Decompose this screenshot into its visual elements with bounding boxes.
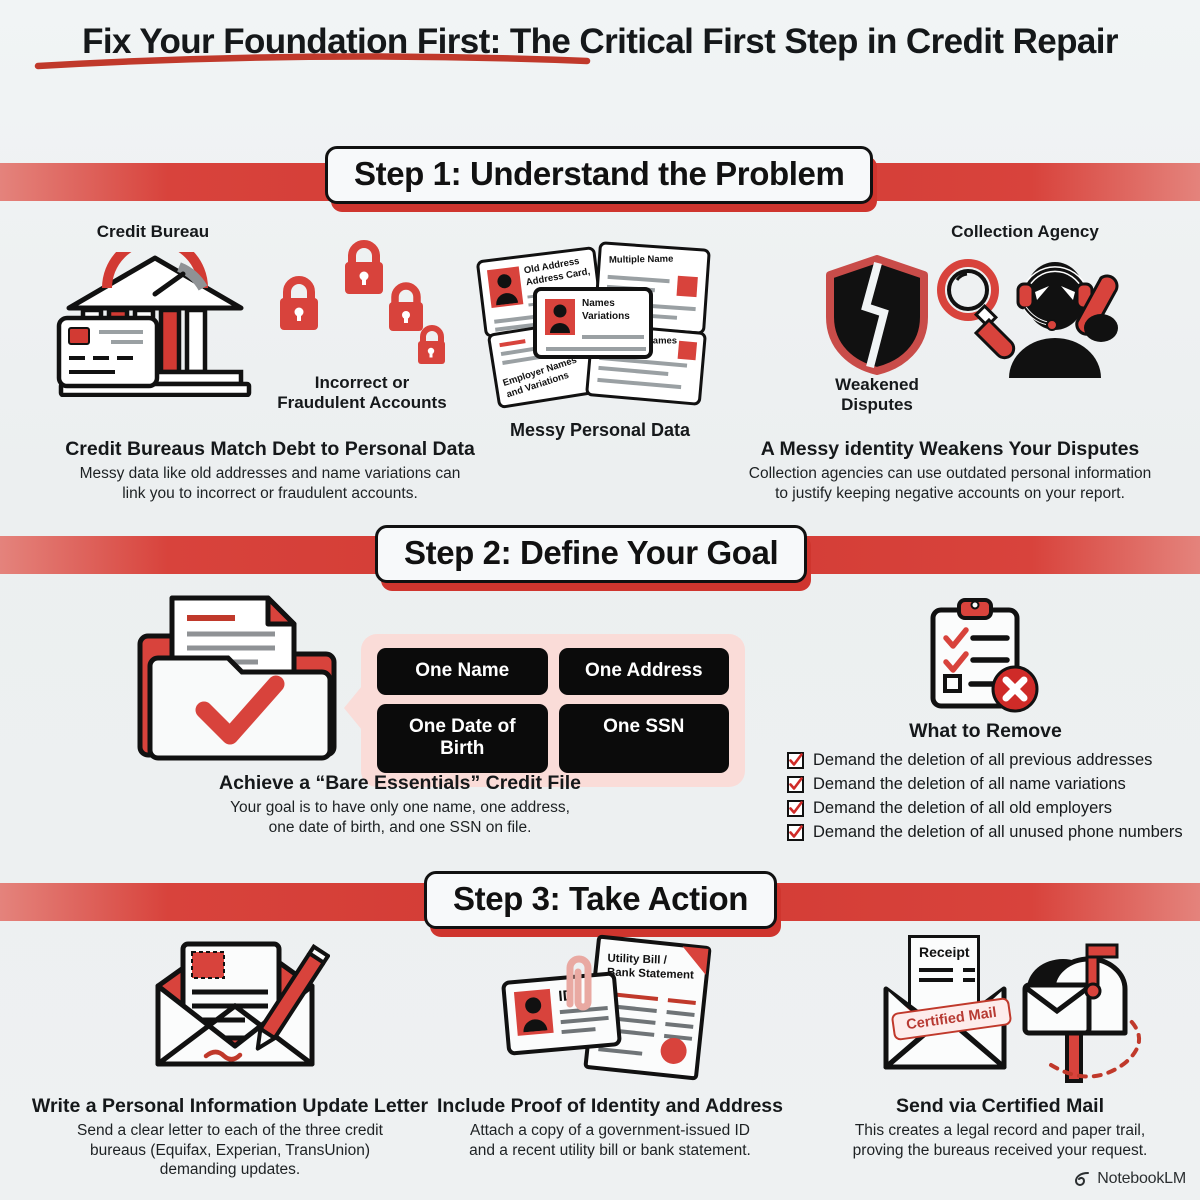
list-item[interactable]: Demand the deletion of all name variatio…	[787, 775, 1183, 794]
step3-card-1-heading: Include Proof of Identity and Address	[430, 1095, 790, 1118]
chip-one-name: One Name	[377, 648, 548, 695]
collection-agency-label: Collection Agency	[900, 222, 1150, 242]
clipboard-remove-icon	[915, 596, 1055, 716]
credit-bureau-node: Credit Bureau	[48, 222, 258, 242]
weakened-disputes-label-line2: Disputes	[812, 395, 942, 415]
chip-one-date-of-birth: One Date of Birth	[377, 704, 548, 773]
step1-banner-label: Step 1: Understand the Problem	[354, 155, 844, 192]
letter-pen-icon	[140, 938, 330, 1078]
remove-item-2-label: Demand the deletion of all old employers	[813, 799, 1112, 818]
step3-card-1: Include Proof of Identity and Address At…	[430, 1095, 790, 1160]
notebooklm-watermark-label: NotebookLM	[1097, 1170, 1186, 1188]
step2-banner: Step 2: Define Your Goal	[375, 525, 807, 583]
bare-essentials-chips: One Name One Address One Date of Birth O…	[361, 634, 745, 787]
list-item[interactable]: Demand the deletion of all previous addr…	[787, 751, 1183, 770]
person-silhouette-icon	[491, 271, 519, 306]
messy-personal-data-label: Messy Personal Data	[480, 420, 720, 441]
step3-card-0-heading: Write a Personal Information Update Lett…	[20, 1095, 440, 1118]
step3-banner: Step 3: Take Action	[424, 871, 777, 929]
fraudulent-accounts-label-line2: Fraudulent Accounts	[262, 393, 462, 413]
utility-bill-label-line2: Bank Statement	[607, 966, 694, 983]
checkbox-checked-icon[interactable]	[787, 800, 804, 817]
list-item[interactable]: Demand the deletion of all unused phone …	[787, 823, 1183, 842]
chip-one-address: One Address	[559, 648, 730, 695]
step3-card-0-line2: bureaus (Equifax, Experian, TransUnion)	[20, 1141, 440, 1161]
weakened-disputes-node: Weakened Disputes	[812, 375, 942, 414]
step2-caption-line1: Your goal is to have only one name, one …	[150, 798, 650, 818]
remove-item-1-label: Demand the deletion of all name variatio…	[813, 775, 1126, 794]
infographic-page: Fix Your Foundation First: The Critical …	[0, 0, 1200, 1200]
notebooklm-logo-icon	[1073, 1170, 1091, 1188]
step3-card-2-heading: Send via Certified Mail	[820, 1095, 1180, 1118]
weakened-disputes-label-line1: Weakened	[812, 375, 942, 395]
folder-check-icon	[130, 592, 360, 767]
paperclip-icon	[556, 952, 602, 1014]
id-card-multiple-name-label: Multiple Name	[609, 254, 674, 266]
step3-card-0-line1: Send a clear letter to each of the three…	[20, 1121, 440, 1141]
step3-card-2: Send via Certified Mail This creates a l…	[820, 1095, 1180, 1160]
remove-item-3-label: Demand the deletion of all unused phone …	[813, 823, 1183, 842]
receipt-label: Receipt	[919, 944, 970, 960]
step1-caption-right-line1: Collection agencies can use outdated per…	[715, 464, 1185, 484]
person-silhouette-icon-3	[518, 994, 549, 1032]
person-silhouette-icon-2	[549, 303, 571, 333]
title-underline-icon	[35, 52, 590, 70]
fraudulent-accounts-node: Incorrect or Fraudulent Accounts	[262, 373, 462, 412]
checkbox-checked-icon[interactable]	[787, 776, 804, 793]
id-utility-bill-icons: Utility Bill / Bank Statement ID	[490, 940, 720, 1085]
checkbox-checked-icon[interactable]	[787, 752, 804, 769]
step3-card-2-line2: proving the bureaus received your reques…	[820, 1141, 1180, 1161]
id-card-names-variations-line1: Names	[582, 298, 630, 311]
credit-bureau-label: Credit Bureau	[48, 222, 258, 242]
step2-banner-label: Step 2: Define Your Goal	[404, 534, 778, 571]
step3-banner-label: Step 3: Take Action	[453, 880, 748, 917]
padlock-icons	[272, 240, 462, 380]
step1-caption-left-line1: Messy data like old addresses and name v…	[30, 464, 510, 484]
chip-one-ssn: One SSN	[559, 704, 730, 773]
fraudulent-accounts-label-line1: Incorrect or	[262, 373, 462, 393]
what-to-remove-heading: What to Remove	[898, 720, 1073, 743]
step2-caption-heading: Achieve a “Bare Essentials” Credit File	[150, 772, 650, 795]
step1-caption-right-line2: to justify keeping negative accounts on …	[715, 484, 1185, 504]
list-item[interactable]: Demand the deletion of all old employers	[787, 799, 1183, 818]
step1-caption-right-heading: A Messy identity Weakens Your Disputes	[715, 438, 1185, 461]
debt-collector-magnifier-icon	[925, 250, 1140, 380]
messy-data-cards: Old Address Address Card, Multiple Name …	[478, 243, 718, 423]
step1-banner: Step 1: Understand the Problem	[325, 146, 873, 204]
step3-card-1-line2: and a recent utility bill or bank statem…	[430, 1141, 790, 1161]
step1-caption-left: Credit Bureaus Match Debt to Personal Da…	[30, 438, 510, 503]
certified-mail-icons: Receipt Certified Mail	[880, 935, 1150, 1085]
remove-checklist: Demand the deletion of all previous addr…	[787, 751, 1183, 847]
messy-personal-data-node: Messy Personal Data	[480, 420, 720, 441]
bank-credit-card-icon	[55, 252, 255, 397]
remove-item-0-label: Demand the deletion of all previous addr…	[813, 751, 1152, 770]
step1-caption-right: A Messy identity Weakens Your Disputes C…	[715, 438, 1185, 503]
id-card-names-variations: Names Variations	[533, 287, 653, 359]
collection-agency-node: Collection Agency	[900, 222, 1150, 242]
checkbox-checked-icon[interactable]	[787, 824, 804, 841]
step3-card-0: Write a Personal Information Update Lett…	[20, 1095, 440, 1180]
step2-caption-line2: one date of birth, and one SSN on file.	[150, 818, 650, 838]
step1-caption-left-line2: link you to incorrect or fraudulent acco…	[30, 484, 510, 504]
notebooklm-watermark: NotebookLM	[1073, 1170, 1186, 1188]
what-to-remove-node: What to Remove	[898, 720, 1073, 743]
step2-caption: Achieve a “Bare Essentials” Credit File …	[150, 772, 650, 837]
step3-card-2-line1: This creates a legal record and paper tr…	[820, 1121, 1180, 1141]
step3-card-1-line1: Attach a copy of a government-issued ID	[430, 1121, 790, 1141]
step1-caption-left-heading: Credit Bureaus Match Debt to Personal Da…	[30, 438, 510, 461]
mailbox-icon	[1005, 943, 1155, 1083]
step3-card-0-line3: demanding updates.	[20, 1160, 440, 1180]
broken-shield-icon	[822, 255, 932, 375]
id-card-names-variations-line2: Variations	[582, 311, 630, 324]
